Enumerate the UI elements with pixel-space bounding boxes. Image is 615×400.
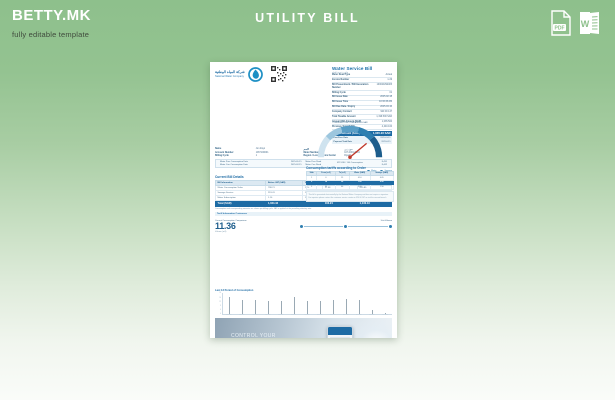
account-field-value: 1 [256,155,257,157]
tariff-title: Consumption tariffs according to Order [306,166,394,170]
y-tick-label: 0 [220,314,221,315]
banner-line1: CONTROL YOUR [231,334,278,338]
meter-segment [304,226,344,227]
details-footnote: Consumption and corresponding amounts ar… [215,208,392,211]
bar-column [346,293,348,314]
bar-column [359,293,361,314]
summary-value: 1,196.500 SAR [376,116,392,119]
banner-text: CONTROL YOUR CONSUMPTION! Download theNW… [231,334,278,338]
x-tick-label: Dec 2024 [357,315,362,316]
x-tick-label: Jan 2025 [370,315,375,316]
x-tick-label: Apr 2024 [252,315,257,316]
bar [242,300,244,315]
gauge-svg [315,124,385,160]
summary-value: Actual [386,74,392,77]
meter-point-icon [344,225,347,228]
meter-date-value: 2025-02-15 [291,164,302,166]
tariff-cell: 3 [307,185,317,190]
bar-column [229,293,231,314]
x-tick-label: Oct 2024 [330,315,335,316]
bar [307,301,309,315]
meter-date-field: Meter Curr Consumption Date2025-02-15 [218,163,304,166]
bar [294,297,296,315]
nwc-water-drop-logo [248,67,263,82]
y-tick-label: 12 [219,302,221,303]
summary-label: Company Contact [332,111,352,114]
bar [229,297,231,315]
consumption-chart: Last 13 Period of Consumption 201612840 … [215,289,392,316]
chart-x-axis: Feb 2024Mar 2024Apr 2024May 2024Jun 2024… [222,315,392,316]
bar [333,300,335,315]
bar [255,300,257,315]
account-field: Billing Cycle1 [215,154,304,157]
meter-date-label: Meter Curr Consumption Date [220,164,248,166]
bar [281,301,283,315]
x-tick-label: Mar 2024 [239,315,244,316]
word-format-icon[interactable]: W [579,10,601,36]
table-total-cell: 1,024.42 [266,200,303,206]
gauge-footer: MY USE / 100 Consumption [306,162,394,164]
company-name-ar: شركة المياه الوطنية [215,70,245,74]
tariff-cell: 1.50 [370,185,393,190]
bill-title: Water Service Bill [332,66,392,71]
tariff-info-strip[interactable]: Tariff Information Customers [215,212,392,216]
chart-title: Last 13 Period of Consumption [215,289,392,292]
reading-and-gauge: Current Consumption Comparison 11.36 Vol… [210,218,397,233]
page-title: UTILITY BILL [0,11,615,25]
svg-text:PDF: PDF [555,26,565,32]
chart-y-axis: 201612840 [215,293,222,315]
summary-label: Meter Read Type [332,74,350,77]
company-name-en: National Water Company [215,75,245,78]
tariff-body: 10150.100.05216301.000.50331603.001.50 [307,176,394,190]
x-tick-label: Nov 2024 [343,315,348,316]
summary-label: Bill Presentment / Bill Generation Numbe… [332,84,377,90]
tariff-table: SlabFrom (m3)To (m3)Water (SAR)Sewage (S… [306,171,394,190]
x-tick-label: Aug 2024 [304,315,309,316]
bar [359,300,361,315]
reading-unit: Volume (m3) [215,231,293,233]
summary-label: Bill Issue Date [332,96,348,99]
meter-timeline: Unit Volume [300,220,392,228]
bar-column [307,293,309,314]
format-icons: PDF W [550,10,601,36]
qr-code [271,66,287,82]
x-tick-label: Sep 2024 [317,315,322,316]
bar [268,301,270,315]
tariff-row: 331603.001.50 [307,185,394,190]
bar [320,301,322,315]
bar-column [242,293,244,314]
pdf-format-icon[interactable]: PDF [550,10,572,36]
x-tick-label: Feb 2024 [226,315,231,316]
account-field-label: Billing Cycle [215,155,256,157]
meter-bar-label: Unit Volume [300,220,392,222]
chart-bars [222,293,392,315]
table-total-cell: Total (SAR) [216,200,266,206]
y-tick-label: 4 [220,310,221,311]
bar-column [320,293,322,314]
x-tick-label: May 2024 [265,315,270,316]
y-tick-label: 16 [219,298,221,299]
bar-column [333,293,335,314]
y-tick-label: 20 [219,293,221,294]
bar [372,310,374,314]
summary-label: Bill Due Date / Expiry [332,106,355,109]
meter-bar [300,225,392,228]
company-identity: شركة المياه الوطنية National Water Compa… [215,66,319,82]
mobile-app-phone-mockup [327,326,353,338]
x-tick-label: Feb 2025 [383,315,388,316]
meter-point-icon [300,225,303,228]
disclaimer-text: This bill is generated electronically by… [306,191,394,202]
y-tick-label: 8 [220,306,221,307]
bar-column [294,293,296,314]
summary-label: Billing Cycle [332,92,346,95]
x-tick-label: Jun 2024 [278,315,283,316]
bar-column [255,293,257,314]
summary-value: 2025-03-10 [380,106,392,109]
bar [346,299,348,315]
utility-bill-document[interactable]: شركة المياه الوطنية National Water Compa… [210,62,397,338]
consumption-gauge: CONSUMPTION COMPARISON SAR MY USE / 100 … [306,120,394,164]
summary-row: Bill Presentment / Bill Generation Numbe… [332,83,392,91]
phone-line [330,337,350,338]
summary-label: Bill Issue Time [332,101,348,104]
summary-value: 10:36:45 AM [379,101,392,104]
current-reading-block: Current Consumption Comparison 11.36 Vol… [215,220,293,233]
summary-value: 100020292483 [377,84,392,90]
app-promo-banner[interactable]: CONTROL YOUR CONSUMPTION! Download theNW… [215,318,392,338]
summary-value: 2025-02-18 [380,96,392,99]
reading-value: 11.36 [215,222,293,231]
summary-value: 01 [389,92,392,95]
summary-label: Invoice Number [332,79,349,82]
summary-value: 1-49 [387,79,392,82]
bar-column [268,293,270,314]
svg-text:W: W [581,19,590,29]
summary-value: 920 00 147 [381,111,393,114]
x-tick-label: Jul 2024 [291,315,296,316]
tariff-cell: 3.00 [349,185,370,190]
meter-point-icon [389,225,392,228]
bar-column [281,293,283,314]
chart-plot-area: 201612840 [215,293,392,315]
tariff-cell: 60 [335,185,349,190]
phone-app-header [328,327,352,335]
meter-segment [348,226,388,227]
bar-column [385,293,387,314]
summary-label: Total Taxable Amount [332,116,356,119]
tariff-cell: 31 [317,185,335,190]
tariff-block: Consumption tariffs according to Order S… [306,166,394,203]
bar-column [372,293,374,314]
brand-subtitle: fully editable template [12,30,91,39]
